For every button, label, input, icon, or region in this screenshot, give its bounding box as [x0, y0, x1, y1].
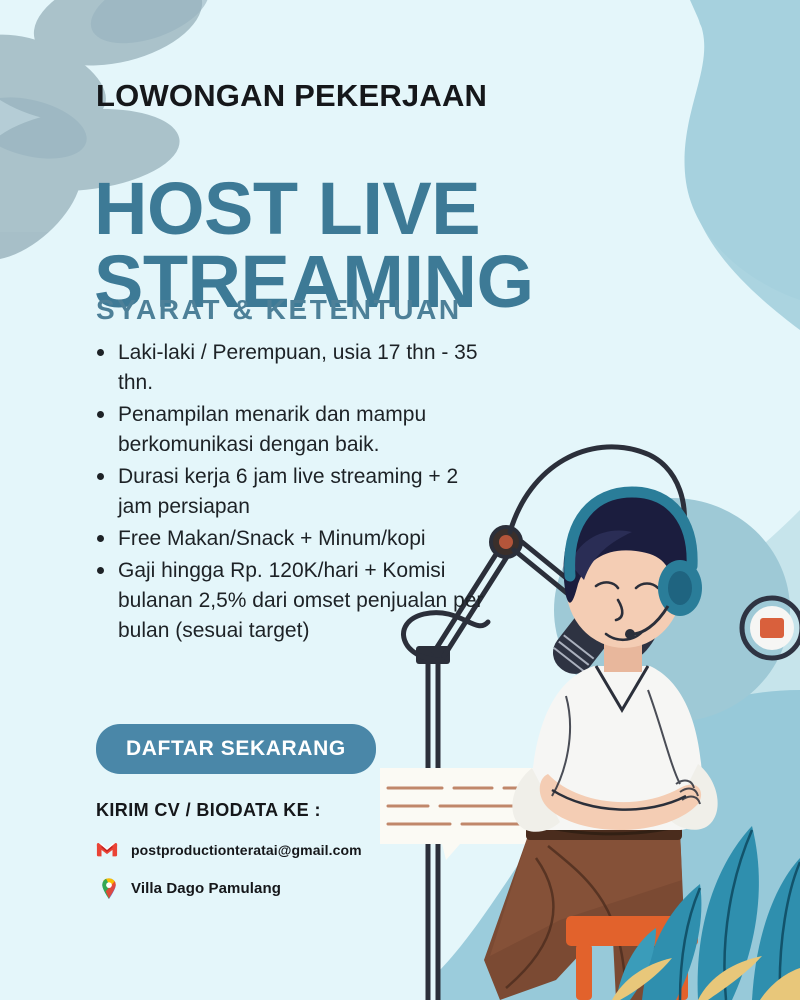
requirements-heading: SYARAT & KETENTUAN: [96, 294, 462, 326]
requirement-text: Laki-laki / Perempuan, usia 17 thn - 35 …: [118, 341, 478, 394]
kicker-text: LOWONGAN PEKERJAAN: [96, 78, 487, 114]
contact-location-row[interactable]: Villa Dago Pamulang: [96, 874, 362, 902]
requirement-item: Free Makan/Snack + Minum/kopi: [92, 524, 492, 554]
requirement-text: Free Makan/Snack + Minum/kopi: [118, 527, 426, 550]
bullet-icon: [97, 473, 104, 480]
bullet-icon: [97, 349, 104, 356]
contact-email-text: postproductionteratai@gmail.com: [131, 842, 362, 858]
requirement-text: Gaji hingga Rp. 120K/hari + Komisi bulan…: [118, 559, 483, 642]
requirement-item: Penampilan menarik dan mampu berkomunika…: [92, 400, 492, 460]
bullet-icon: [97, 411, 104, 418]
contact-heading: KIRIM CV / BIODATA KE :: [96, 800, 321, 821]
requirement-item: Laki-laki / Perempuan, usia 17 thn - 35 …: [92, 338, 492, 398]
bullet-icon: [97, 535, 104, 542]
requirement-text: Penampilan menarik dan mampu berkomunika…: [118, 403, 426, 456]
job-poster: LOWONGAN PEKERJAAN HOST LIVE STREAMING S…: [0, 0, 800, 1000]
requirements-list: Laki-laki / Perempuan, usia 17 thn - 35 …: [92, 338, 492, 648]
contact-email-row[interactable]: postproductionteratai@gmail.com: [96, 836, 362, 864]
requirement-item: Gaji hingga Rp. 120K/hari + Komisi bulan…: [92, 556, 492, 646]
contact-list: postproductionteratai@gmail.com Villa Da…: [96, 836, 362, 912]
bullet-icon: [97, 567, 104, 574]
register-now-button[interactable]: DAFTAR SEKARANG: [96, 724, 376, 774]
poster-content: LOWONGAN PEKERJAAN HOST LIVE STREAMING S…: [0, 0, 800, 1000]
title-line-1: HOST LIVE: [94, 167, 480, 250]
requirement-text: Durasi kerja 6 jam live streaming + 2 ja…: [118, 465, 458, 518]
gmail-icon: [96, 839, 118, 861]
requirement-item: Durasi kerja 6 jam live streaming + 2 ja…: [92, 462, 492, 522]
google-maps-pin-icon: [100, 877, 118, 899]
contact-location-text: Villa Dago Pamulang: [131, 880, 281, 897]
